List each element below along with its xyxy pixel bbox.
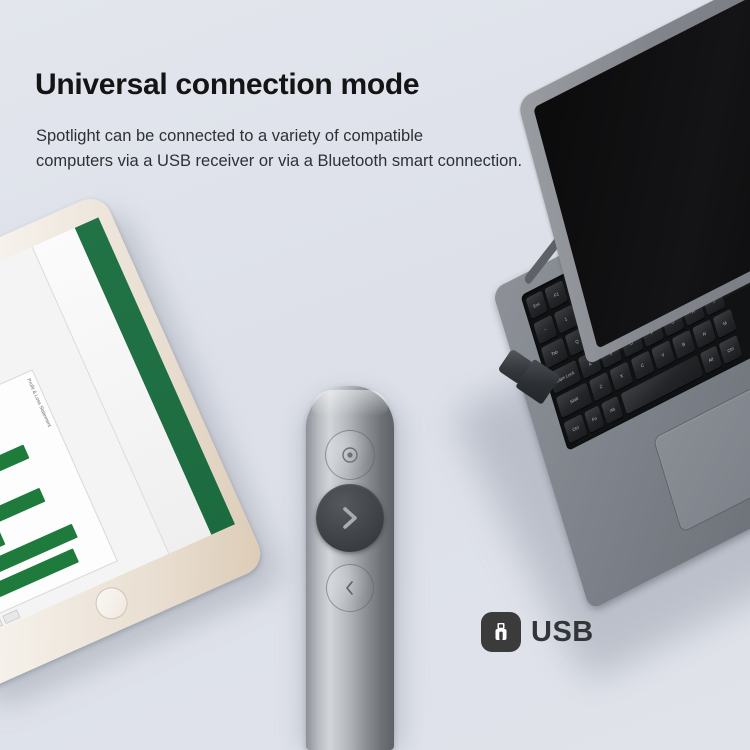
usb-flash-drive-icon [481,612,521,652]
keyboard-key[interactable]: B [672,330,696,359]
tablet-screen: Table of Profit Profit & Loss Statement [0,217,235,643]
keyboard-key[interactable]: Alt [601,395,623,424]
next-button[interactable] [316,484,384,552]
tablet-home-button[interactable] [90,582,132,624]
keyboard-key[interactable]: M [713,309,737,338]
keyboard-key[interactable]: Z [589,372,613,401]
keyboard-key[interactable]: Fn [584,405,604,433]
spotlight-remote [306,386,394,750]
product-marketing-image: Table of Profit Profit & Loss Statement [0,0,750,750]
subtitle-line-2: computers via a USB receiver or via a Bl… [36,149,636,174]
remote-highlight [312,390,388,416]
keyboard-key[interactable]: N [692,319,716,348]
tablet-device: Table of Profit Profit & Loss Statement [0,187,283,705]
sheet-tab[interactable] [2,609,20,624]
keyboard-key[interactable]: Esc [526,291,548,320]
sheet-tab-bar[interactable] [0,609,21,639]
usb-stick-glyph [488,619,514,645]
tablet-body: Table of Profit Profit & Loss Statement [0,192,267,694]
keyboard-key[interactable]: Ctrl [563,413,587,442]
spreadsheet-chart-panel: Profit & Loss Statement [0,369,118,628]
subtitle-line-1: Spotlight can be connected to a variety … [36,124,636,149]
usb-label: USB [531,616,594,649]
laptop-trackpad[interactable] [653,377,750,533]
keyboard-key[interactable]: C [630,351,654,380]
sheet-tab[interactable] [0,617,3,632]
keyboard-key[interactable]: Ctrl [718,334,742,363]
chevron-left-icon [341,578,359,598]
target-dot-icon [340,445,360,465]
keyboard-key[interactable]: F1 [544,280,568,309]
keyboard-key[interactable]: X [610,361,634,390]
back-button[interactable] [326,564,374,612]
keyboard-key[interactable]: V [651,340,675,369]
keyboard-key[interactable]: ~ [533,314,557,343]
page-title: Universal connection mode [35,68,419,102]
spotlight-button[interactable] [325,430,375,480]
usb-badge: USB [481,612,594,652]
chart-title: Profit & Loss Statement [25,378,52,428]
chevron-right-icon [338,503,362,533]
keyboard-key[interactable]: Alt [700,345,722,374]
page-subtitle: Spotlight can be connected to a variety … [36,124,636,174]
